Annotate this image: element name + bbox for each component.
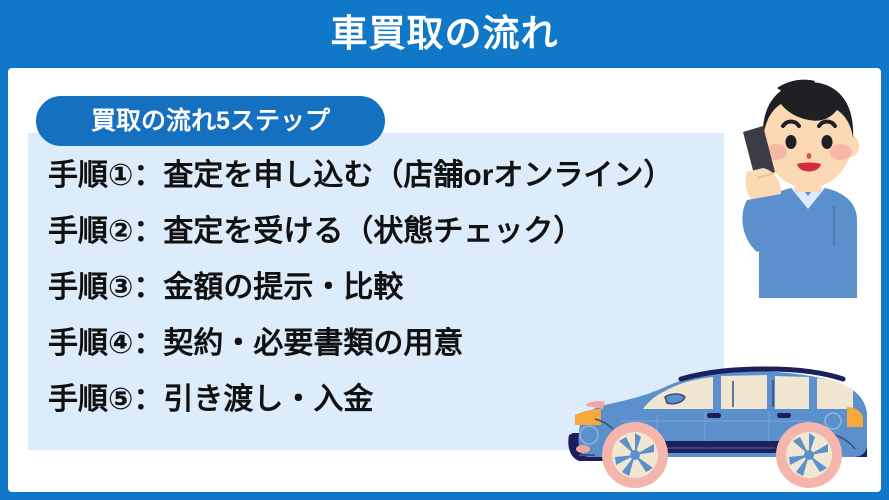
rocker-panel	[649, 441, 796, 453]
rear-window	[775, 376, 809, 409]
list-item: 手順②：査定を受ける（状態チェック）	[48, 217, 748, 247]
front-window	[721, 375, 767, 409]
blush-right	[830, 144, 852, 160]
door-handle-rear	[777, 413, 791, 418]
list-item: 手順①：査定を申し込む（店舗orオンライン）	[48, 161, 748, 191]
list-item: 手順③：金額の提示・比較	[48, 273, 748, 303]
content-panel: 買取の流れ5ステップ 手順①：査定を申し込む（店舗orオンライン） 手順②：査定…	[8, 68, 881, 492]
front-hub-cap	[630, 450, 640, 460]
eye-right	[822, 135, 833, 149]
quarter-window	[817, 378, 853, 409]
steps-badge: 買取の流れ5ステップ	[36, 96, 385, 146]
slide-root: 車買取の流れ 買取の流れ5ステップ 手順①：査定を申し込む（店舗orオンライン）…	[0, 0, 889, 500]
page-title: 車買取の流れ	[0, 0, 889, 68]
rear-hub-cap	[804, 450, 814, 460]
door-handle-front	[707, 413, 721, 418]
front-nub	[576, 445, 590, 453]
eye-left	[786, 135, 797, 149]
man-on-phone-illustration	[733, 68, 873, 298]
nose-shape	[807, 153, 812, 159]
headlight	[575, 409, 601, 425]
front-accent	[585, 401, 605, 409]
blue-suv-illustration	[561, 349, 881, 492]
